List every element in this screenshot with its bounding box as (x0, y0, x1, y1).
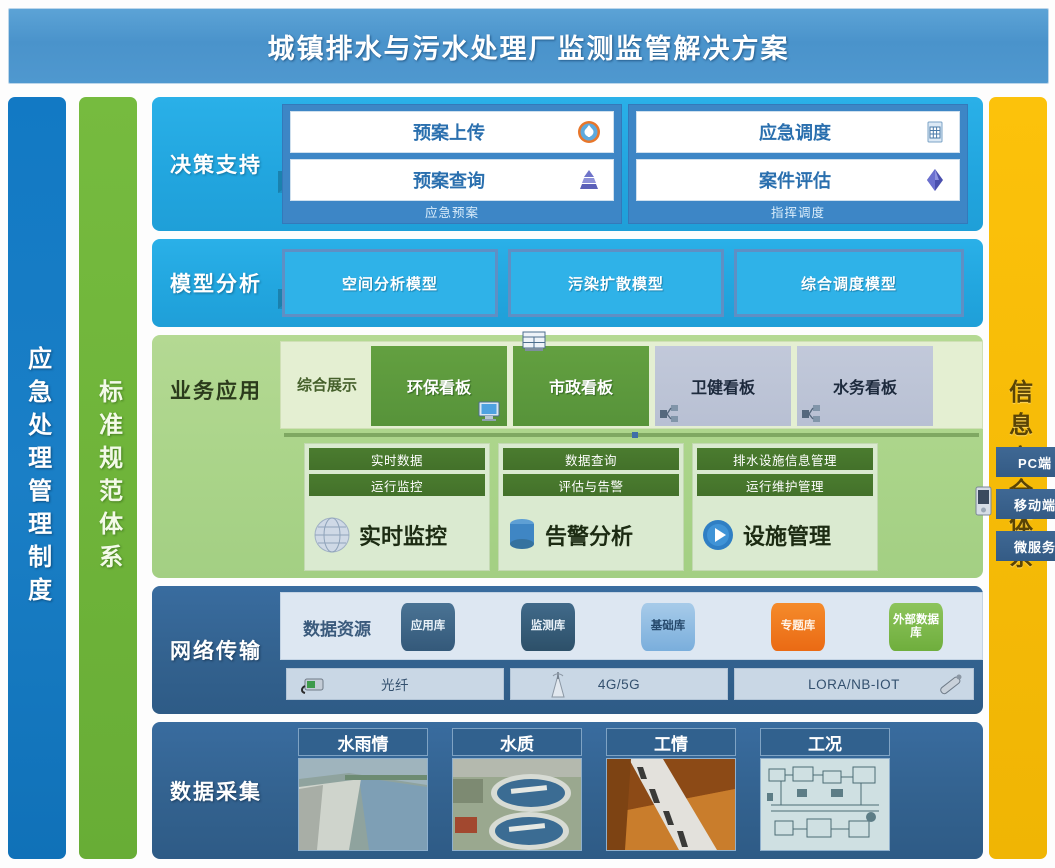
database-cylinder-basic-label: 基础库 (651, 620, 686, 633)
business-item-data-query[interactable]: 数据查询 (503, 448, 679, 470)
network-transmission-body: 数据资源 应用库 监测库 基础库 专题库 外部数据库 (280, 586, 983, 714)
device-button-microservice-label: 微服务 (1014, 537, 1055, 556)
layer-network-transmission-label: 网络传输 (152, 586, 280, 714)
device-button-pc-label: PC端 (1018, 453, 1052, 472)
antenna-icon (933, 670, 967, 700)
layer-network-transmission: 网络传输 数据资源 应用库 监测库 基础库 专题库 (152, 586, 983, 714)
database-cylinder-thematic[interactable]: 专题库 (771, 603, 825, 651)
data-card-water-quality-label: 水质 (452, 728, 582, 756)
side-column-information-security: 信息安全体系 (989, 97, 1047, 859)
model-box-pollution-diffusion-label: 污染扩散模型 (568, 273, 664, 294)
network-link-4g5g-label: 4G/5G (598, 677, 640, 692)
showcase-panel: 综合展示 环保看板 市政看板 (280, 341, 983, 429)
model-box-pollution-diffusion[interactable]: 污染扩散模型 (508, 249, 724, 317)
decision-card-plan-upload[interactable]: 预案上传 (290, 111, 614, 153)
network-link-lora-nbiot-label: LORA/NB-IOT (808, 677, 900, 692)
showcase-label: 综合展示 (289, 374, 365, 395)
layer-decision-support-label: 决策支持 (152, 97, 280, 231)
device-button-microservice[interactable]: 微服务 (996, 531, 1055, 561)
pipeline-trench-photo (606, 758, 736, 851)
device-button-pc[interactable]: PC端 (996, 447, 1055, 477)
business-item-operation-monitoring[interactable]: 运行监控 (309, 474, 485, 496)
layer-data-collection-label: 数据采集 (152, 722, 280, 859)
decision-group-emergency-plan-label: 应急预案 (283, 202, 621, 221)
network-link-lora-nbiot[interactable]: LORA/NB-IOT (734, 668, 974, 700)
business-item-evaluation-alarm[interactable]: 评估与告警 (503, 474, 679, 496)
diagram-title-bar: 城镇排水与污水处理厂监测监管解决方案 (8, 8, 1049, 84)
data-card-operating-condition[interactable]: 工况 (760, 728, 890, 852)
layer-stack: 决策支持 预案上传 (152, 97, 983, 859)
business-main-facility-management[interactable]: 设施管理 (699, 506, 871, 564)
grid-device-icon (921, 118, 949, 146)
cable-icon (299, 673, 329, 697)
decision-group-command-dispatch-label: 指挥调度 (629, 202, 967, 221)
network-link-fiber[interactable]: 光纤 (286, 668, 504, 700)
layer-business-application: 业务应用 综合展示 环保看板 (152, 335, 983, 578)
page-title: 城镇排水与污水处理厂监测监管解决方案 (268, 27, 790, 66)
business-column-realtime-monitoring: 实时数据 运行监控 实时监控 (304, 443, 490, 571)
database-cylinder-application-label: 应用库 (411, 620, 446, 633)
node-icon (801, 404, 821, 424)
layer-model-analysis: 模型分析 空间分析模型 污染扩散模型 综合调度模型 (152, 239, 983, 327)
board-water-affairs[interactable]: 水务看板 (797, 346, 933, 426)
model-box-integrated-dispatch[interactable]: 综合调度模型 (734, 249, 964, 317)
business-main-alarm-analysis-label: 告警分析 (545, 519, 633, 551)
river-channel-photo (298, 758, 428, 851)
data-resource-label: 数据资源 (289, 615, 385, 640)
database-cylinder-monitoring-label: 监测库 (531, 620, 566, 633)
board-health-label: 卫健看板 (691, 374, 755, 398)
business-main-facility-management-label: 设施管理 (743, 519, 831, 551)
decision-card-case-evaluation-label: 案件评估 (647, 167, 921, 193)
database-cylinder-monitoring[interactable]: 监测库 (521, 603, 575, 651)
board-environmental[interactable]: 环保看板 (371, 346, 507, 426)
data-card-water-rain[interactable]: 水雨情 (298, 728, 428, 852)
model-analysis-body: 空间分析模型 污染扩散模型 综合调度模型 (280, 239, 983, 327)
data-card-water-rain-label: 水雨情 (298, 728, 428, 756)
network-link-fiber-label: 光纤 (381, 674, 409, 694)
pyramid-icon (575, 166, 603, 194)
device-button-mobile-label: 移动端 (1014, 495, 1055, 514)
layer-model-analysis-label: 模型分析 (152, 239, 280, 327)
data-card-project-status[interactable]: 工情 (606, 728, 736, 852)
business-item-drainage-facility-info[interactable]: 排水设施信息管理 (697, 448, 873, 470)
side-column-emergency-label: 应急处理管理制度 (24, 346, 49, 610)
phone-icon (972, 485, 996, 517)
sedimentation-tank-photo (452, 758, 582, 851)
data-card-water-quality[interactable]: 水质 (452, 728, 582, 852)
board-municipal[interactable]: 市政看板 (513, 346, 649, 426)
business-main-realtime-monitoring-label: 实时监控 (359, 519, 447, 551)
diamond-icon (921, 166, 949, 194)
business-item-realtime-data[interactable]: 实时数据 (309, 448, 485, 470)
data-collection-body: 水雨情 水质 (280, 722, 983, 859)
decision-group-emergency-plan: 预案上传 预案查询 (282, 104, 622, 224)
node-icon (659, 404, 679, 424)
antenna-tower-icon (547, 671, 569, 699)
side-column-emergency-management: 应急处理管理制度 (8, 97, 66, 859)
decision-card-plan-query-label: 预案查询 (301, 167, 575, 193)
database-cylinder-external[interactable]: 外部数据库 (889, 603, 943, 651)
monitor-icon (477, 400, 501, 422)
layer-data-collection: 数据采集 水雨情 (152, 722, 983, 859)
database-cylinder-application[interactable]: 应用库 (401, 603, 455, 651)
model-box-spatial-analysis-label: 空间分析模型 (342, 273, 438, 294)
decision-card-emergency-dispatch[interactable]: 应急调度 (636, 111, 960, 153)
decision-group-command-dispatch: 应急调度 案件评 (628, 104, 968, 224)
database-cylinder-basic[interactable]: 基础库 (641, 603, 695, 651)
board-environmental-label: 环保看板 (407, 374, 471, 398)
business-main-alarm-analysis[interactable]: 告警分析 (505, 506, 677, 564)
decision-support-body: 预案上传 预案查询 (280, 97, 983, 231)
decision-card-emergency-dispatch-label: 应急调度 (647, 119, 921, 145)
lifebuoy-icon (575, 118, 603, 146)
business-column-facility-management: 排水设施信息管理 运行维护管理 设施管理 (692, 443, 878, 571)
divider-dot (632, 432, 638, 438)
board-water-affairs-label: 水务看板 (833, 374, 897, 398)
business-column-alarm-analysis: 数据查询 评估与告警 告警分析 (498, 443, 684, 571)
database-cylinder-external-label: 外部数据库 (889, 614, 943, 640)
business-application-body: 综合展示 环保看板 市政看板 (280, 335, 983, 578)
window-icon (521, 330, 547, 354)
board-health[interactable]: 卫健看板 (655, 346, 791, 426)
database-cylinder-thematic-label: 专题库 (781, 620, 816, 633)
scada-schematic-photo (760, 758, 890, 851)
device-button-mobile[interactable]: 移动端 (996, 489, 1055, 519)
decision-card-case-evaluation[interactable]: 案件评估 (636, 159, 960, 201)
business-item-operation-maintenance[interactable]: 运行维护管理 (697, 474, 873, 496)
layer-business-application-label: 业务应用 (152, 375, 280, 405)
decision-card-plan-query[interactable]: 预案查询 (290, 159, 614, 201)
side-column-standards-label: 标准规范体系 (95, 379, 120, 577)
side-column-standards: 标准规范体系 (79, 97, 137, 859)
data-resource-panel: 数据资源 应用库 监测库 基础库 专题库 外部数据库 (280, 592, 983, 660)
architecture-diagram: 城镇排水与污水处理厂监测监管解决方案 应急处理管理制度 标准规范体系 信息安全体… (0, 0, 1055, 868)
model-box-spatial-analysis[interactable]: 空间分析模型 (282, 249, 498, 317)
play-circle-icon (699, 516, 737, 554)
business-divider (284, 433, 979, 437)
layer-decision-support: 决策支持 预案上传 (152, 97, 983, 231)
decision-card-plan-upload-label: 预案上传 (301, 119, 575, 145)
database-icon (505, 515, 539, 555)
business-main-realtime-monitoring[interactable]: 实时监控 (311, 506, 483, 564)
board-municipal-label: 市政看板 (549, 374, 613, 398)
network-link-4g5g[interactable]: 4G/5G (510, 668, 728, 700)
data-card-operating-condition-label: 工况 (760, 728, 890, 756)
globe-icon (311, 514, 353, 556)
data-card-project-status-label: 工情 (606, 728, 736, 756)
model-box-integrated-dispatch-label: 综合调度模型 (801, 273, 897, 294)
